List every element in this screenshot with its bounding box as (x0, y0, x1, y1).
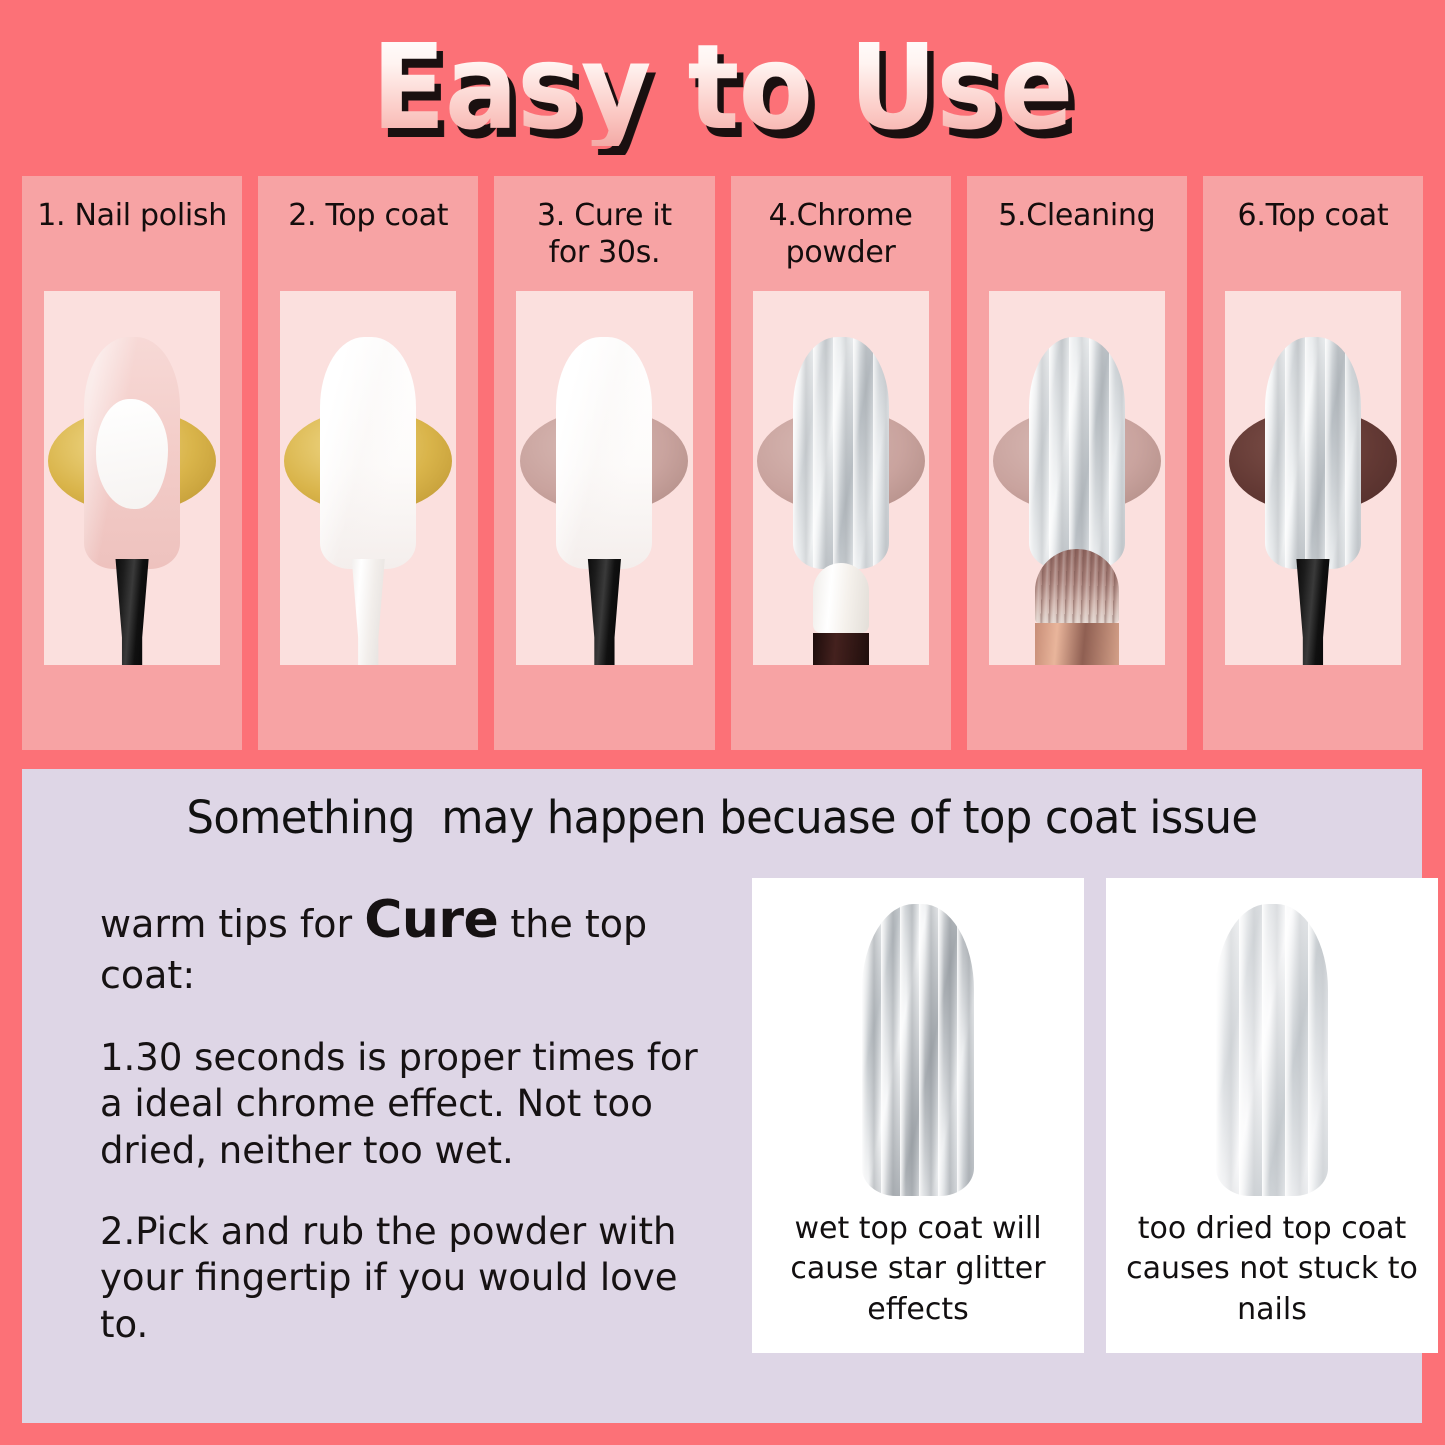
white-coated-nail-icon (556, 337, 652, 569)
step-card-6: 6.Top coat (1203, 176, 1423, 750)
dried-chrome-nail-icon (1216, 904, 1328, 1196)
sponge-handle (813, 633, 869, 665)
step-photo-2 (280, 291, 456, 665)
glitter-chrome-nail-icon (862, 904, 974, 1196)
compare-card-wet: wet top coat will cause star glitter eff… (752, 878, 1084, 1353)
step-card-5: 5.Cleaning (967, 176, 1187, 750)
title-banner: Easy to Use (0, 22, 1445, 152)
sponge-head (813, 563, 869, 633)
brush-bristles (1035, 549, 1119, 623)
step-photo-3 (516, 291, 692, 665)
tip-item-1: 1.30 seconds is proper times for a ideal… (100, 1035, 730, 1175)
step-card-3: 3. Cure it for 30s. (494, 176, 714, 750)
chrome-nail-icon (1265, 337, 1361, 569)
step-label-1: 1. Nail polish (22, 176, 242, 258)
compare-caption-wet: wet top coat will cause star glitter eff… (768, 1209, 1068, 1331)
steps-strip: 1. Nail polish 2. Top coat 3. Cure it fo… (22, 176, 1423, 750)
step-card-2: 2. Top coat (258, 176, 478, 750)
step-photo-4 (753, 291, 929, 665)
compare-caption-dried: too dried top coat causes not stuck to n… (1122, 1209, 1422, 1331)
step-card-1: 1. Nail polish (22, 176, 242, 750)
warm-tips-block: warm tips for Cure the top coat: 1.30 se… (100, 889, 730, 1382)
top-coat-issue-panel: Something may happen becuase of top coat… (22, 769, 1422, 1423)
black-polish-brush-icon (1290, 559, 1336, 665)
brush-ferrule (1035, 623, 1119, 665)
white-sponge-applicator-icon (813, 563, 869, 665)
step-label-4: 4.Chrome powder (731, 176, 951, 271)
rose-gold-fan-brush-icon (1035, 549, 1119, 665)
step-photo-1 (44, 291, 220, 665)
step-card-4: 4.Chrome powder (731, 176, 951, 750)
tips-lead-emphasis: Cure (364, 890, 498, 950)
compare-strip: wet top coat will cause star glitter eff… (752, 878, 1444, 1353)
tips-lead-before: warm tips for (100, 902, 364, 946)
panel-heading: Something may happen becuase of top coat… (50, 793, 1394, 843)
step-photo-6 (1225, 291, 1401, 665)
page-title: Easy to Use (372, 28, 1073, 146)
step-photo-5 (989, 291, 1165, 665)
step-label-2: 2. Top coat (258, 176, 478, 258)
infographic-page: Easy to Use 1. Nail polish 2. Top coat 3… (0, 0, 1445, 1445)
white-polish-patch-icon (96, 399, 168, 509)
step-label-6: 6.Top coat (1203, 176, 1423, 258)
step-label-5: 5.Cleaning (967, 176, 1187, 258)
compare-card-dried: too dried top coat causes not stuck to n… (1106, 878, 1438, 1353)
chrome-nail-icon (1029, 337, 1125, 569)
black-polish-brush-icon (581, 559, 627, 665)
white-coated-nail-icon (320, 337, 416, 569)
black-polish-brush-icon (109, 559, 155, 665)
tips-lead-line: warm tips for Cure the top coat: (100, 889, 730, 999)
chrome-nail-icon (793, 337, 889, 569)
step-label-3: 3. Cure it for 30s. (494, 176, 714, 271)
white-polish-brush-icon (345, 559, 391, 665)
tip-item-2: 2.Pick and rub the powder with your fing… (100, 1209, 730, 1349)
